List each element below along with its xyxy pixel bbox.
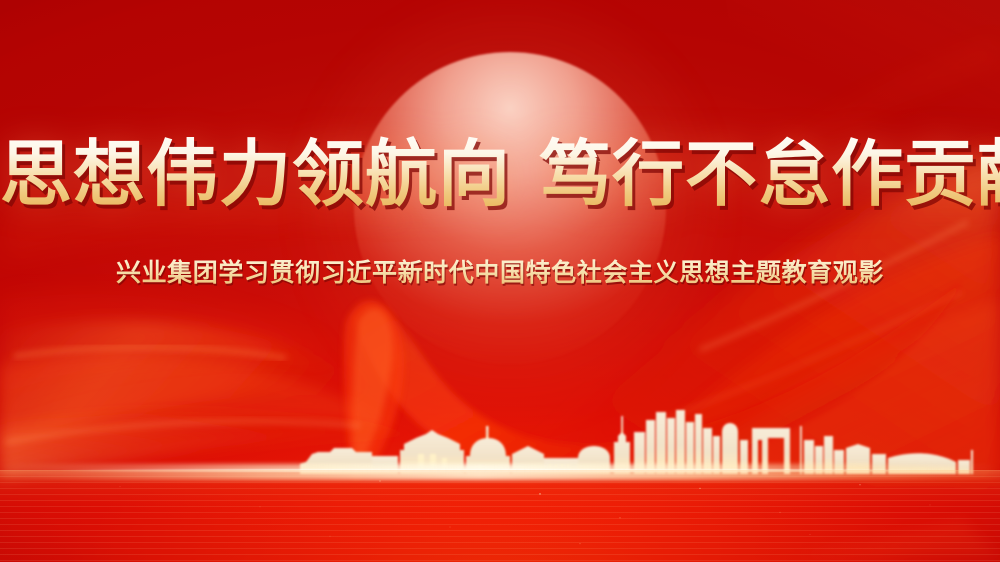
poster-headline: 思想伟力领航向笃行不怠作贡献 xyxy=(0,131,1000,217)
poster-subtitle: 兴业集团学习贯彻习近平新时代中国特色社会主义思想主题教育观影 xyxy=(0,256,1000,290)
headline-phrase-2: 笃行不怠作贡献 xyxy=(539,132,1000,216)
ground-sparkle-particles xyxy=(0,470,1000,562)
poster-canvas: 思想伟力领航向笃行不怠作贡献 兴业集团学习贯彻习近平新时代中国特色社会主义思想主… xyxy=(0,0,1000,562)
headline-phrase-1: 思想伟力领航向 xyxy=(0,132,511,216)
